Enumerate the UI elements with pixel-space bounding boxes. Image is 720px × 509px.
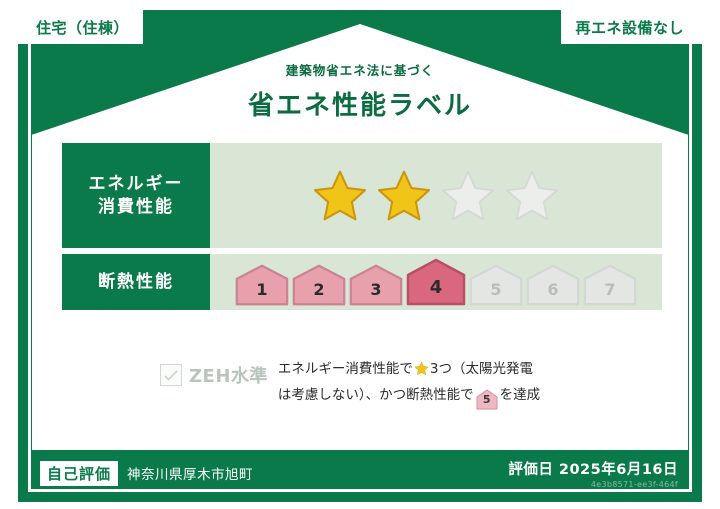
inline-star-icon: [414, 364, 429, 380]
insulation-label: 断熱性能: [98, 271, 174, 294]
zeh-label: ZEH水準: [189, 362, 268, 388]
inline-grade-badge: 5: [476, 389, 498, 406]
insulation-grade-5: 5: [469, 264, 523, 306]
grade-value: 4: [430, 277, 443, 306]
grade-value: 7: [604, 280, 615, 306]
footer-left: 自己評価 神奈川県厚木市旭町: [40, 461, 253, 486]
insulation-grade-7: 7: [583, 264, 637, 306]
title-subtitle: 建築物省エネ法に基づく: [0, 60, 720, 79]
star-empty-icon: [439, 168, 497, 224]
title-block: 建築物省エネ法に基づく 省エネ性能ラベル: [0, 60, 720, 122]
page-title: 省エネ性能ラベル: [0, 85, 720, 122]
renewable-energy-label: 再エネ設備なし: [575, 17, 684, 38]
zeh-badge: ZEH水準: [160, 358, 268, 388]
energy-label-line1: エネルギー: [89, 173, 184, 196]
energy-label-line2: 消費性能: [89, 196, 184, 219]
grade-value: 1: [256, 280, 267, 306]
star-filled-icon: [311, 168, 369, 224]
building-type-label: 住宅（住棟）: [36, 17, 129, 38]
renewable-energy-tab: 再エネ設備なし: [561, 10, 702, 44]
energy-performance-label: 住宅（住棟） 再エネ設備なし 建築物省エネ法に基づく 省エネ性能ラベル エネルギ…: [0, 0, 720, 509]
insulation-performance-value-cell: 1234567: [210, 254, 662, 310]
grade-value: 5: [490, 280, 501, 306]
grade-value: 3: [370, 280, 381, 306]
grade-value: 6: [547, 280, 558, 306]
zeh-desc-line2-post: を達成: [500, 387, 541, 403]
insulation-grade-4: 4: [406, 258, 466, 306]
star-empty-icon: [503, 168, 561, 224]
rating-rows: エネルギー 消費性能 断熱性能 1234567: [62, 143, 662, 316]
property-address: 神奈川県厚木市旭町: [127, 463, 253, 483]
insulation-grade-1: 1: [235, 264, 289, 306]
zeh-desc-line1-post: 3つ（太陽光発電: [430, 361, 533, 377]
zeh-checkbox-icon: [160, 364, 182, 386]
insulation-grade-scale: 1234567: [235, 258, 637, 306]
energy-performance-row: エネルギー 消費性能: [62, 143, 662, 248]
zeh-section: ZEH水準 エネルギー消費性能で3つ（太陽光発電 は考慮しない）、かつ断熱性能で…: [160, 358, 540, 407]
energy-performance-label-cell: エネルギー 消費性能: [62, 143, 210, 248]
insulation-performance-row: 断熱性能 1234567: [62, 254, 662, 310]
star-filled-icon: [375, 168, 433, 224]
building-type-tab: 住宅（住棟）: [18, 10, 143, 44]
insulation-grade-2: 2: [292, 264, 346, 306]
label-footer: 自己評価 神奈川県厚木市旭町 評価日 2025年6月16日 4e3b8571-e…: [32, 447, 688, 499]
energy-performance-value-cell: [210, 143, 662, 248]
insulation-grade-3: 3: [349, 264, 403, 306]
zeh-desc-line2-pre: は考慮しない）、かつ断熱性能で: [278, 387, 474, 403]
self-evaluation-badge: 自己評価: [40, 461, 118, 486]
insulation-performance-label-cell: 断熱性能: [62, 254, 210, 310]
grade-value: 2: [313, 280, 324, 306]
zeh-description: エネルギー消費性能で3つ（太陽光発電 は考慮しない）、かつ断熱性能で5を達成: [278, 358, 540, 407]
footer-right: 評価日 2025年6月16日 4e3b8571-ee3f-464f: [508, 458, 678, 489]
insulation-grade-6: 6: [526, 264, 580, 306]
zeh-desc-line1-pre: エネルギー消費性能で: [278, 361, 413, 377]
document-id: 4e3b8571-ee3f-464f: [508, 480, 678, 489]
evaluation-date: 評価日 2025年6月16日: [508, 458, 678, 479]
inline-grade-value: 5: [476, 389, 498, 410]
star-rating: [311, 168, 561, 224]
